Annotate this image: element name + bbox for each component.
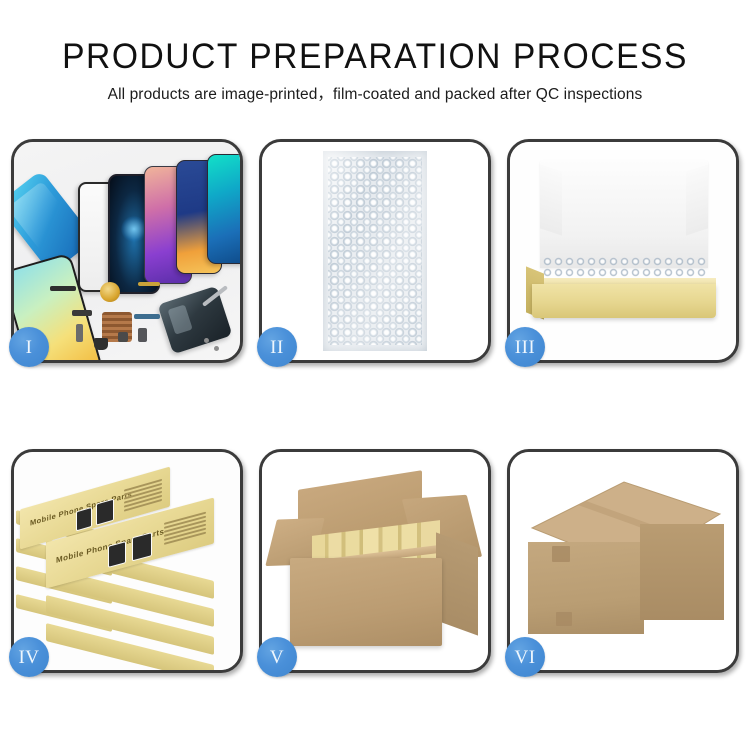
screw-part-a bbox=[204, 338, 209, 343]
box-front-yellow bbox=[532, 284, 716, 318]
carton-side-right bbox=[436, 532, 478, 635]
connector-part bbox=[72, 310, 92, 316]
box-screen-thumb-front-a bbox=[108, 541, 126, 568]
screw-part-b bbox=[214, 346, 219, 351]
carton-tape-tab-top bbox=[552, 546, 570, 562]
battery-connector-part bbox=[138, 328, 147, 342]
step-panel-vi[interactable]: VI bbox=[507, 449, 739, 673]
outer-carton-sealed bbox=[528, 480, 724, 646]
box-lid-flap-right bbox=[686, 164, 708, 235]
process-steps-grid: I II bbox=[11, 139, 739, 673]
step-badge-i: I bbox=[9, 327, 49, 367]
page-title: PRODUCT PREPARATION PROCESS bbox=[15, 0, 735, 76]
outer-carton-open bbox=[272, 476, 478, 652]
flex-cable-blue-part bbox=[134, 314, 160, 319]
step-panel-iii[interactable]: III bbox=[507, 139, 739, 363]
box-screen-thumb-front-b bbox=[132, 532, 152, 561]
plastic-sheen bbox=[323, 151, 427, 351]
step-badge-ii: II bbox=[257, 327, 297, 367]
carton-tape-tab-bottom bbox=[556, 612, 572, 626]
step-iv-image: Mobile Phone Spare Parts Mobile Phone Sp… bbox=[14, 452, 240, 670]
copper-coil-part bbox=[100, 282, 120, 302]
step-v-image bbox=[262, 452, 488, 670]
step-panel-i[interactable]: I bbox=[11, 139, 243, 363]
carton-front-face bbox=[290, 558, 442, 646]
product-preparation-process-page: PRODUCT PREPARATION PROCESS All products… bbox=[0, 0, 750, 750]
flex-cable-gold-part bbox=[138, 282, 160, 286]
step-i-image bbox=[14, 142, 240, 360]
box-spec-lines-rear bbox=[124, 479, 162, 514]
step-panel-iv[interactable]: Mobile Phone Spare Parts Mobile Phone Sp… bbox=[11, 449, 243, 673]
box-screen-thumb-rear-b bbox=[96, 499, 114, 526]
step-badge-iv: IV bbox=[9, 637, 49, 677]
step-ii-image bbox=[262, 142, 488, 360]
box-spec-lines-front bbox=[164, 512, 206, 547]
earpiece-mesh-part bbox=[50, 286, 76, 291]
stacked-boxes-group: Mobile Phone Spare Parts Mobile Phone Sp… bbox=[16, 464, 240, 664]
step-badge-iii: III bbox=[505, 327, 545, 367]
box-lid-white bbox=[540, 160, 708, 268]
box-screen-thumb-rear-a bbox=[76, 507, 92, 532]
step-panel-v[interactable]: V bbox=[259, 449, 491, 673]
carton-front-face bbox=[528, 542, 644, 634]
step-panel-ii[interactable]: II bbox=[259, 139, 491, 363]
step-badge-vi: VI bbox=[505, 637, 545, 677]
page-header: PRODUCT PREPARATION PROCESS All products… bbox=[0, 0, 750, 104]
step-badge-v: V bbox=[257, 637, 297, 677]
step-iii-image bbox=[510, 142, 736, 360]
page-subtitle: All products are image-printed，film-coat… bbox=[0, 76, 750, 104]
speaker-part bbox=[94, 338, 108, 350]
step-vi-image bbox=[510, 452, 736, 670]
bubble-wrap-sheet bbox=[323, 151, 427, 351]
inner-box-open bbox=[526, 160, 722, 336]
spare-parts-group bbox=[14, 142, 240, 360]
box-lid-flap-left bbox=[540, 164, 562, 235]
camera-module-part bbox=[118, 332, 128, 342]
tweezers-part bbox=[202, 285, 228, 307]
screw-post-part bbox=[76, 324, 83, 342]
carton-right-face bbox=[640, 524, 724, 620]
